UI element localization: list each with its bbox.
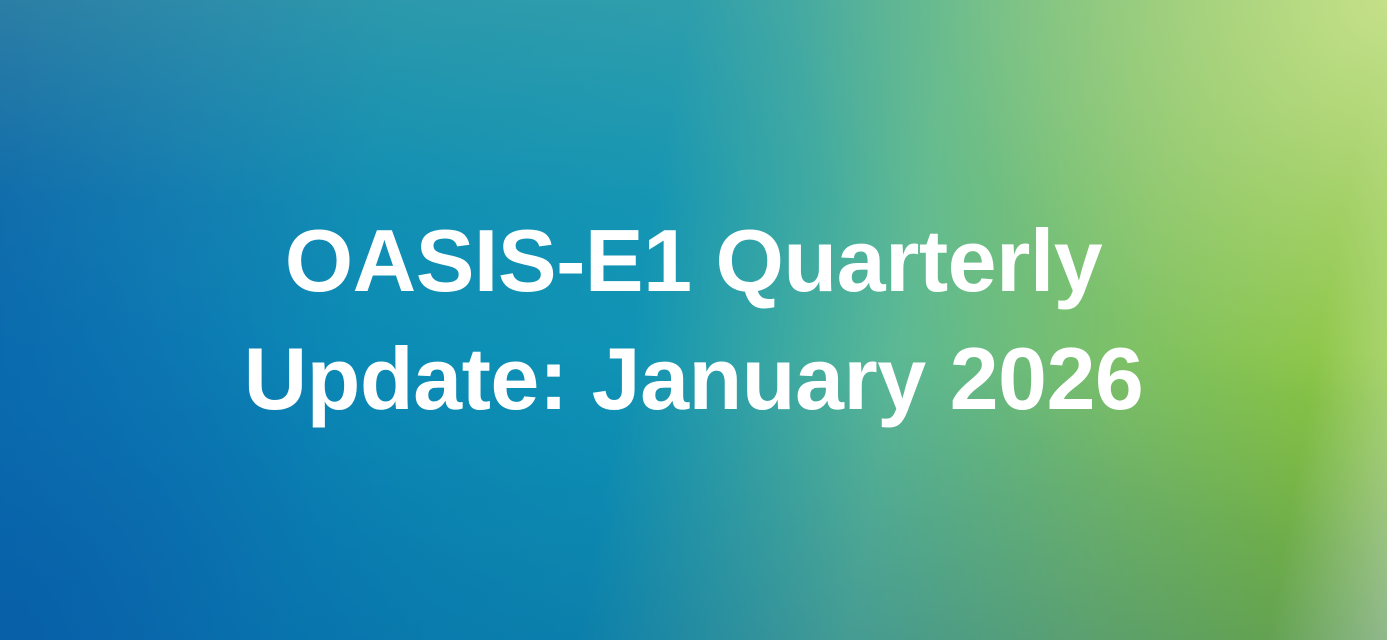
title-banner: OASIS-E1 Quarterly Update: January 2026 bbox=[0, 0, 1387, 640]
banner-title-block: OASIS-E1 Quarterly Update: January 2026 bbox=[0, 0, 1387, 640]
banner-title-line-1: OASIS-E1 Quarterly bbox=[285, 202, 1103, 320]
banner-title-line-2: Update: January 2026 bbox=[244, 320, 1144, 438]
